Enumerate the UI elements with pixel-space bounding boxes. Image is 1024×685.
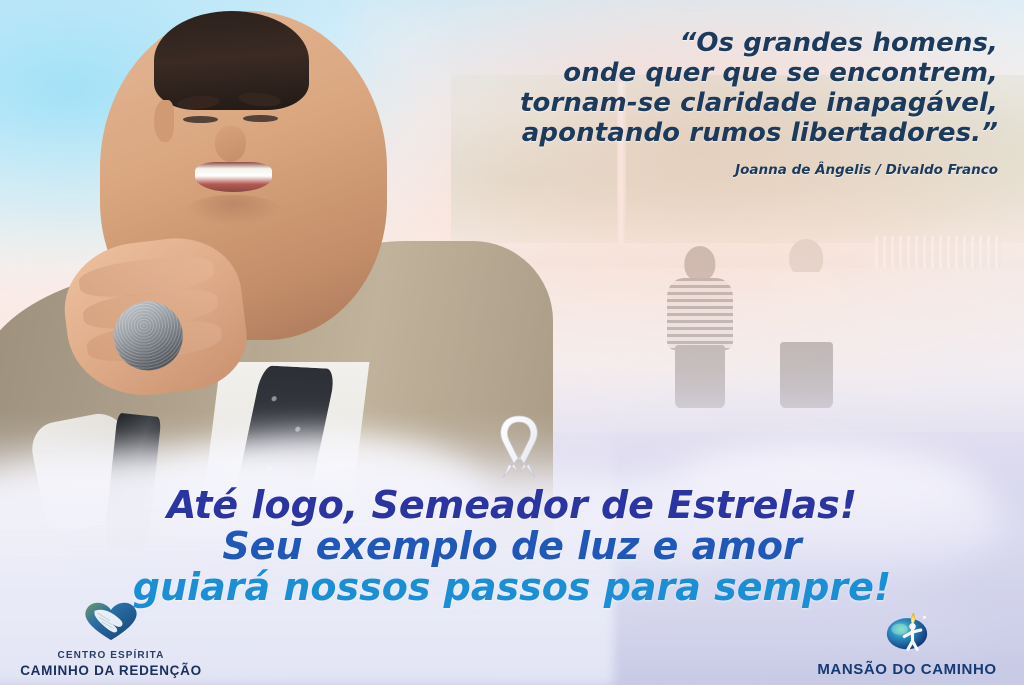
- globe-figure-light-icon: [802, 609, 1012, 658]
- logo-left-subtitle: CENTRO ESPÍRITA: [18, 650, 204, 663]
- quote-block: “Os grandes homens, onde quer que se enc…: [438, 28, 998, 178]
- hands-heart-icon: [18, 598, 204, 647]
- logo-left-title: CAMINHO DA REDENÇÃO: [18, 663, 204, 679]
- portrait-ear: [154, 100, 174, 143]
- logo-mansao-do-caminho: MANSÃO DO CAMINHO: [802, 609, 1012, 679]
- quote-line-4: apontando rumos libertadores.”: [438, 118, 998, 148]
- memorial-poster: “Os grandes homens, onde quer que se enc…: [0, 0, 1024, 685]
- quote-line-3: tornam-se claridade inapagável,: [438, 88, 998, 118]
- portrait-hair: [154, 11, 309, 110]
- logo-centro-espirita: CENTRO ESPÍRITA CAMINHO DA REDENÇÃO: [18, 598, 204, 679]
- figure-torso: [771, 272, 842, 347]
- logo-right-title: MANSÃO DO CAMINHO: [802, 661, 1012, 679]
- microphone-head: [110, 298, 186, 374]
- quote-line-2: onde quer que se encontrem,: [438, 58, 998, 88]
- portrait-smile: [195, 162, 272, 192]
- quote-line-1: “Os grandes homens,: [438, 28, 998, 58]
- portrait-nose: [215, 126, 247, 162]
- figure-torso: [667, 278, 733, 350]
- portrait-chin-shadow: [186, 195, 281, 225]
- figure-head: [684, 246, 715, 281]
- portrait-eye-right: [243, 115, 277, 122]
- portrait-eye-left: [183, 116, 217, 123]
- quote-attribution: Joanna de Ângelis / Divaldo Franco: [438, 162, 998, 178]
- white-ribbon-icon: [487, 410, 551, 484]
